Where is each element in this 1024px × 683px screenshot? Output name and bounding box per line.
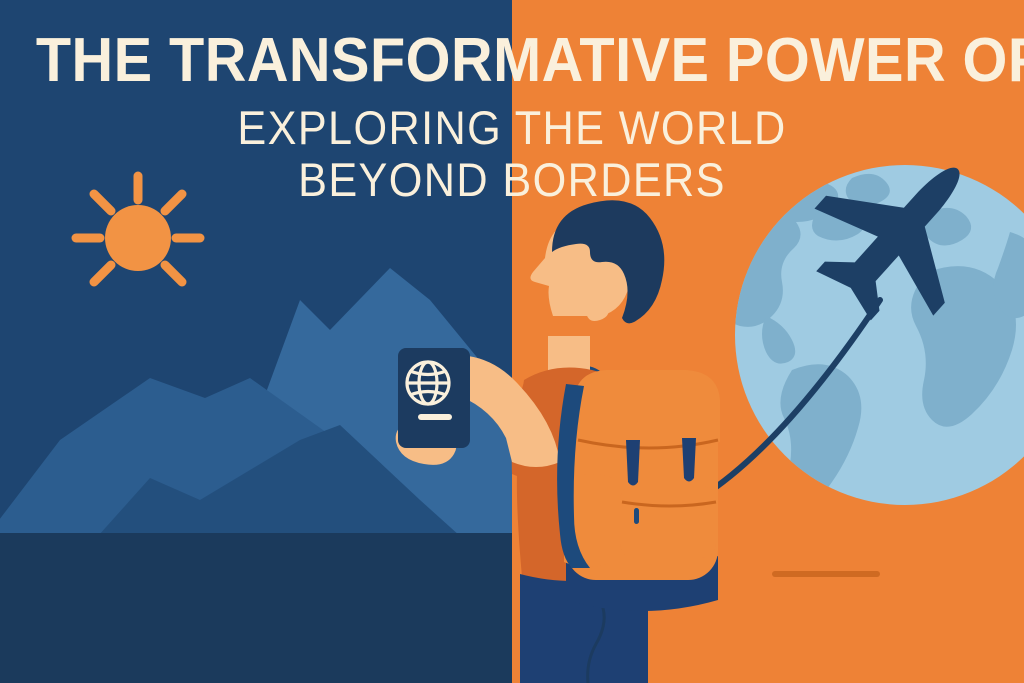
passport-text-dash bbox=[418, 414, 452, 420]
travel-poster: THE TRANSFORMATIVE POWER OF EXPLORING TH… bbox=[0, 0, 1024, 683]
passport-illustration bbox=[0, 0, 1024, 683]
accent-rule bbox=[772, 571, 880, 577]
